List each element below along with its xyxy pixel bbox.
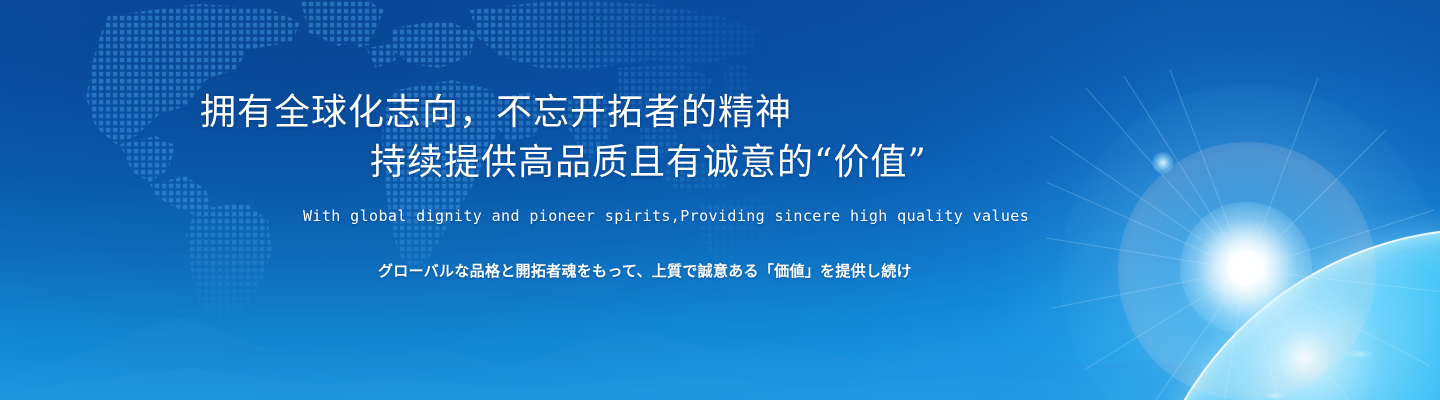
- subtitle-english: With global dignity and pioneer spirits,…: [303, 207, 1029, 225]
- headline: 拥有全球化志向，不忘开拓者的精神 持续提供高品质且有诚意的“价值”: [200, 88, 927, 188]
- hero-banner: 拥有全球化志向，不忘开拓者的精神 持续提供高品质且有诚意的“价值” With g…: [0, 0, 1440, 400]
- headline-line-1: 拥有全球化志向，不忘开拓者的精神: [200, 88, 927, 138]
- headline-line-2: 持续提供高品质且有诚意的“价值”: [200, 138, 927, 188]
- subtitle-japanese: グローバルな品格と開拓者魂をもって、上質で誠意ある「価値」を提供し続け: [378, 260, 912, 281]
- banner-text-block: 拥有全球化志向，不忘开拓者的精神 持续提供高品质且有诚意的“价值” With g…: [0, 0, 1440, 400]
